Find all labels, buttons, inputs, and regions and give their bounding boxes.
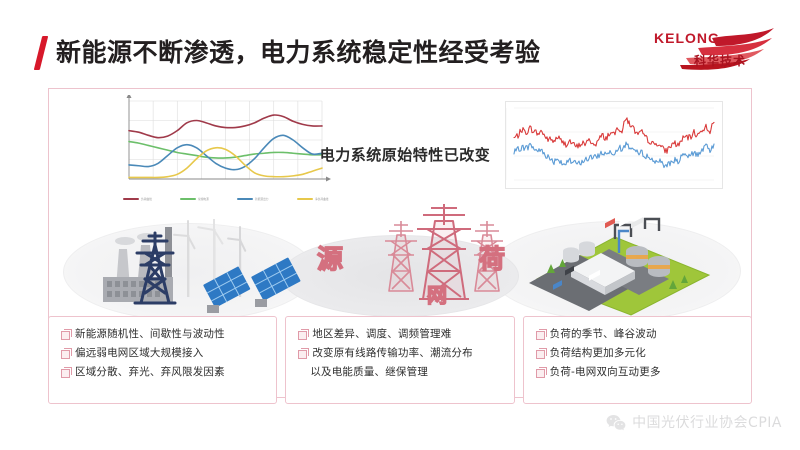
cube-bullet-icon	[298, 350, 307, 359]
cube-bullet-icon	[61, 369, 70, 378]
solar-panel-icon	[251, 257, 301, 307]
mark-source: 源	[317, 247, 343, 273]
bullet-cards: 新能源随机性、间歇性与波动性 偏远弱电网区域大规模接入 区域分散、弃光、弃风限发…	[48, 316, 752, 404]
kelong-logo: KELONG 科华技术	[650, 22, 782, 72]
page-title: 新能源不断渗透，电力系统稳定性经受考验	[56, 36, 541, 70]
bullet-text: 偏远弱电网区域大规模接入	[75, 346, 203, 360]
bullet-text: 负荷结构更加多元化	[550, 346, 646, 360]
bullet-text-continuation: 以及电能质量、继保管理	[310, 365, 505, 379]
list-item: 改变原有线路传输功率、潮流分布	[298, 346, 505, 360]
cube-bullet-icon	[61, 331, 70, 340]
transmission-tower-icon	[385, 221, 417, 291]
center-caption: 电力系统原始特性已改变	[305, 144, 505, 165]
bullet-text: 负荷的季节、峰谷波动	[550, 327, 657, 341]
list-item: 偏远弱电网区域大规模接入	[61, 346, 268, 360]
cube-bullet-icon	[298, 331, 307, 340]
chart-load-curves	[119, 95, 334, 193]
list-item: 新能源随机性、间歇性与波动性	[61, 327, 268, 341]
list-item: 负荷的季节、峰谷波动	[536, 327, 743, 341]
list-item: 负荷结构更加多元化	[536, 346, 743, 360]
bullet-text: 改变原有线路传输功率、潮流分布	[312, 346, 473, 360]
card-load: 负荷的季节、峰谷波动 负荷结构更加多元化 负荷-电网双向互动更多	[523, 316, 752, 404]
mark-load: 荷	[479, 247, 505, 273]
cube-bullet-icon	[536, 369, 545, 378]
logo-chinese-name: 科华技术	[694, 52, 746, 69]
load-city-illustration	[519, 217, 729, 317]
cube-bullet-icon	[536, 331, 545, 340]
bullet-text: 区域分散、弃光、弃风限发因素	[75, 365, 225, 379]
list-item: 区域分散、弃光、弃风限发因素	[61, 365, 268, 379]
chart-volatility	[505, 101, 723, 189]
list-item: 地区差异、调度、调频管理难	[298, 327, 505, 341]
wind-turbine-icon	[173, 220, 196, 297]
slide-header: 新能源不断渗透，电力系统稳定性经受考验 KELONG 科华技术	[0, 0, 800, 82]
watermark-text: 中国光伏行业协会CPIA	[632, 412, 782, 432]
cube-bullet-icon	[61, 350, 70, 359]
chart-right-svg	[506, 102, 722, 188]
slide-root: 新能源不断渗透，电力系统稳定性经受考验 KELONG 科华技术 负荷曲线	[0, 0, 800, 450]
bullet-text: 地区差异、调度、调频管理难	[312, 327, 451, 341]
bullet-text: 负荷-电网双向互动更多	[550, 365, 661, 379]
chart-left-svg	[119, 95, 334, 193]
wechat-watermark: 中国光伏行业协会CPIA	[606, 412, 782, 432]
solar-panel-icon	[203, 266, 251, 313]
bullet-text: 新能源随机性、间歇性与波动性	[75, 327, 225, 341]
card-grid: 地区差异、调度、调频管理难 改变原有线路传输功率、潮流分布 以及电能质量、继保管…	[285, 316, 514, 404]
mark-grid: 网	[427, 285, 447, 305]
card-source: 新能源随机性、间歇性与波动性 偏远弱电网区域大规模接入 区域分散、弃光、弃风限发…	[48, 316, 277, 404]
red-slash-icon	[34, 36, 48, 70]
wechat-icon	[606, 414, 626, 431]
cube-bullet-icon	[536, 350, 545, 359]
illustration-band: 源 网 荷	[49, 197, 751, 319]
source-illustration	[79, 219, 309, 319]
logo-wordmark: KELONG	[654, 30, 720, 46]
list-item: 负荷-电网双向互动更多	[536, 365, 743, 379]
